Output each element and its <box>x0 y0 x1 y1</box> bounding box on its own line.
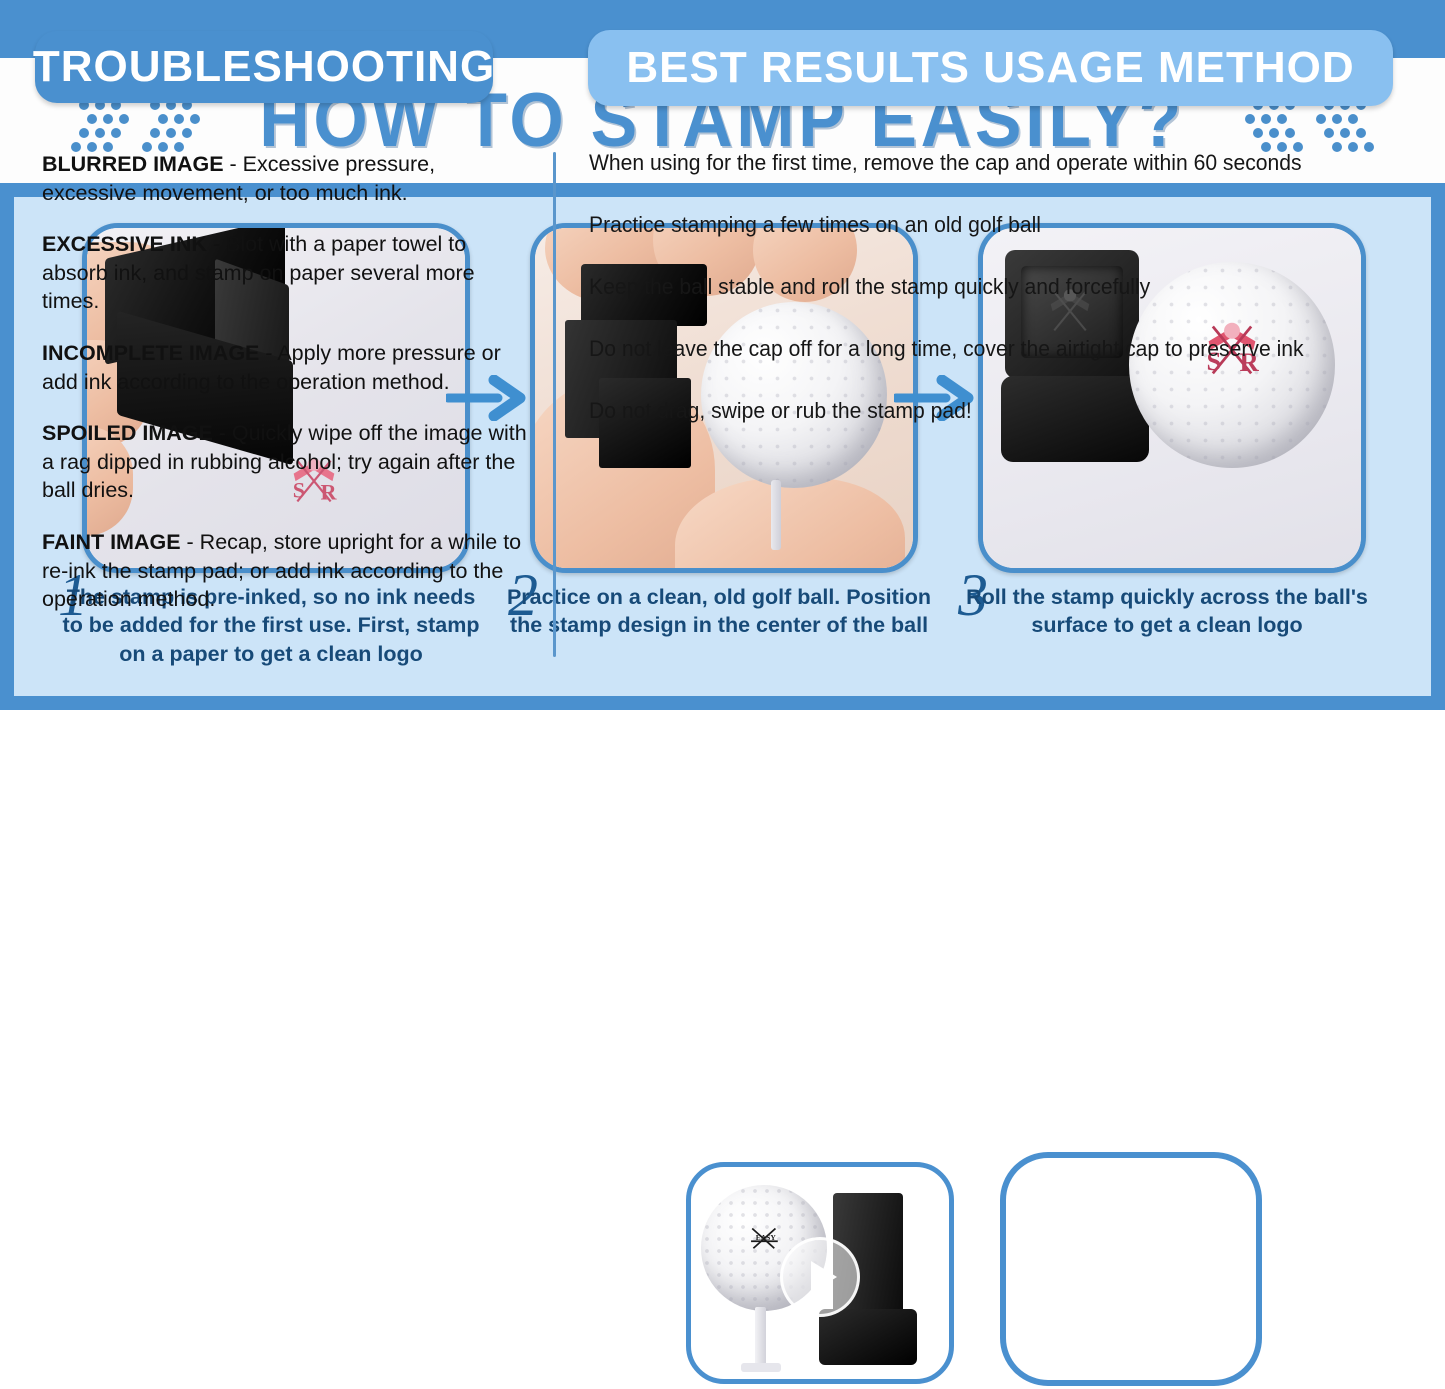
best-results-heading: BEST RESULTS USAGE METHOD <box>588 30 1393 106</box>
svg-text:EASY: EASY <box>756 1233 777 1242</box>
best-results-item: Do not leave the cap off for a long time… <box>589 336 1367 362</box>
best-results-list: When using for the first time, remove th… <box>589 150 1399 460</box>
empty-rounded-frame <box>1000 1152 1262 1386</box>
best-results-item: Do not drag, swipe or rub the stamp pad! <box>589 398 1367 424</box>
best-results-item: Keep the ball stable and roll the stamp … <box>589 274 1367 300</box>
troubleshooting-heading: TROUBLESHOOTING <box>35 31 493 103</box>
troubleshooting-item: SPOILED IMAGE - Quickly wipe off the ima… <box>42 419 534 505</box>
troubleshooting-term: EXCESSIVE INK <box>42 232 207 256</box>
troubleshooting-list: BLURRED IMAGE - Excessive pressure, exce… <box>42 150 534 637</box>
troubleshooting-term: SPOILED IMAGE <box>42 421 213 445</box>
troubleshooting-item: EXCESSIVE INK - Blot with a paper towel … <box>42 230 534 316</box>
play-icon[interactable] <box>780 1237 860 1317</box>
best-results-item: When using for the first time, remove th… <box>589 150 1367 176</box>
sr-golf-logo-icon: EASY <box>741 1225 789 1261</box>
step-caption-3: Roll the stamp quickly across the ball's… <box>952 583 1382 640</box>
video-thumbnail[interactable]: EASY <box>686 1162 954 1384</box>
best-results-item: Practice stamping a few times on an old … <box>589 212 1367 238</box>
troubleshooting-item: INCOMPLETE IMAGE - Apply more pressure o… <box>42 339 534 396</box>
troubleshooting-term: INCOMPLETE IMAGE <box>42 341 259 365</box>
step-caption-2: Practice on a clean, old golf ball. Posi… <box>504 583 934 640</box>
troubleshooting-term: BLURRED IMAGE <box>42 152 224 176</box>
troubleshooting-item: FAINT IMAGE - Recap, store upright for a… <box>42 528 534 614</box>
troubleshooting-term: FAINT IMAGE <box>42 530 181 554</box>
troubleshooting-item: BLURRED IMAGE - Excessive pressure, exce… <box>42 150 534 207</box>
section-divider <box>553 152 556 657</box>
